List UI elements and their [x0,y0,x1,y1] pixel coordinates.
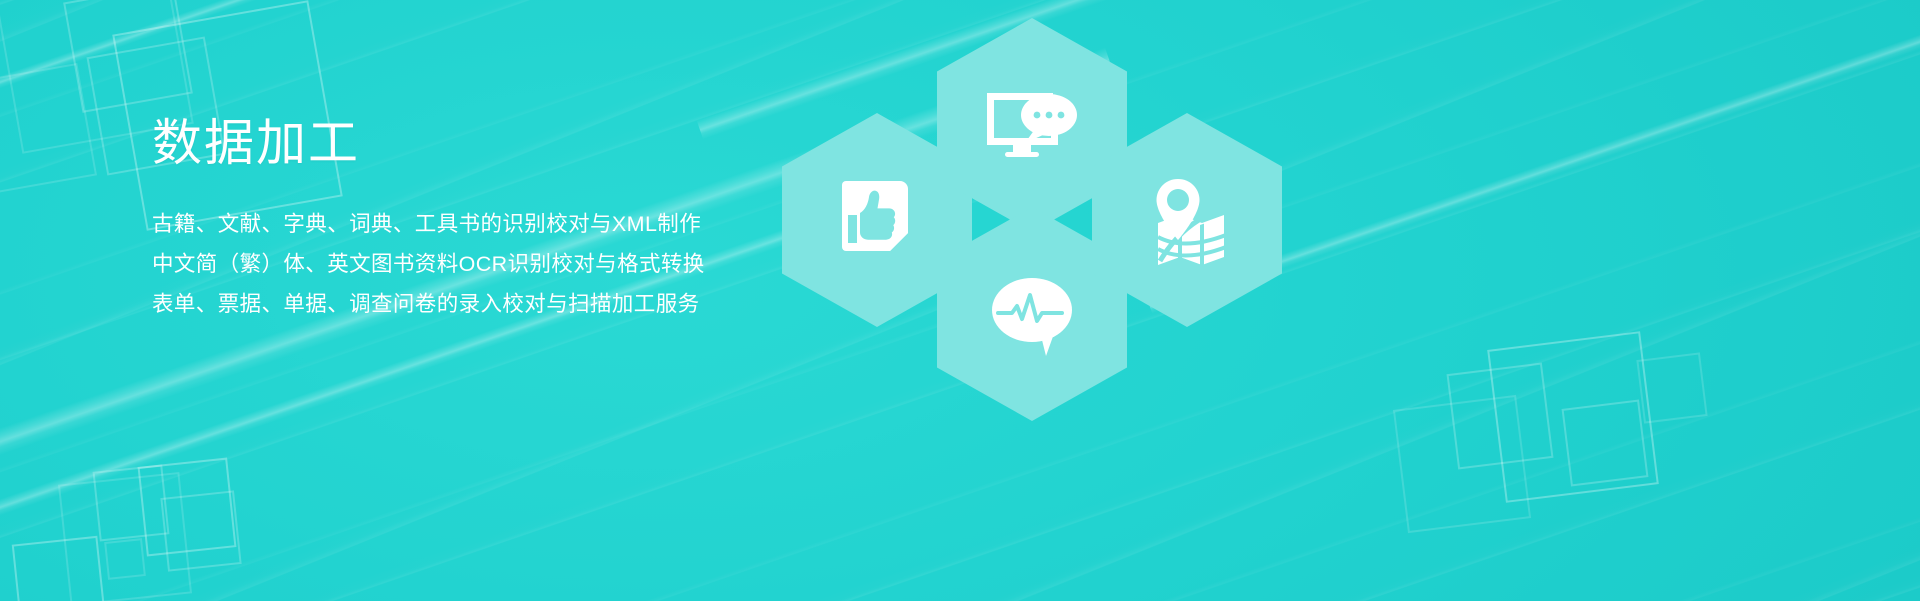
description-line-3: 表单、票据、单据、调查问卷的录入校对与扫描加工服务 [152,284,872,324]
data-processing-banner: 数据加工 古籍、文献、字典、词典、工具书的识别校对与XML制作 中文简（繁）体、… [0,0,1920,601]
map-location-pin-icon [1144,175,1230,265]
banner-copy: 数据加工 古籍、文献、字典、词典、工具书的识别校对与XML制作 中文简（繁）体、… [152,118,872,324]
pulse-speech-bubble-icon [984,270,1080,358]
page-title: 数据加工 [152,118,872,168]
monitor-chat-icon [983,87,1081,163]
thumbs-up-document-icon [838,177,916,263]
description-line-2: 中文简（繁）体、英文图书资料OCR识别校对与格式转换 [152,244,872,284]
description-line-1: 古籍、文献、字典、词典、工具书的识别校对与XML制作 [152,204,872,244]
icon-hexagon-cluster [782,6,1302,366]
